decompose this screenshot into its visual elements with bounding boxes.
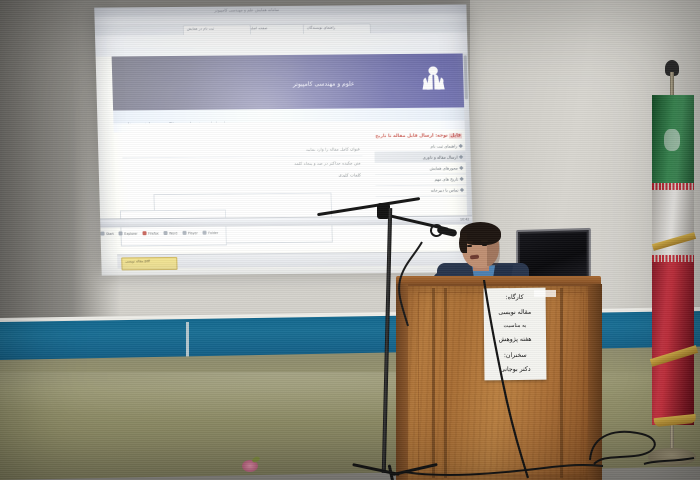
- firefox-icon: [143, 231, 147, 235]
- laptop-screen: [520, 232, 587, 280]
- iran-flag: [652, 95, 694, 425]
- start-icon: [100, 231, 104, 235]
- download-button[interactable]: مقاله نویسی.pdf: [121, 257, 177, 270]
- sunburst-fan-logo: [416, 62, 451, 92]
- podium-cable: [470, 280, 530, 480]
- folder-icon: [203, 230, 207, 234]
- content-line-0: عنوان کامل مقاله را وارد نمایید: [118, 142, 366, 156]
- player-icon: [182, 230, 186, 234]
- page-sidebar: فایل توجه: ارسال فایل مقاله تا تاریخ مشخ…: [374, 131, 468, 197]
- word-icon: [164, 231, 168, 235]
- flag-fold-shading: [652, 95, 694, 425]
- taskbar-label: Firefox: [148, 231, 159, 235]
- presenter-brow-left: [466, 241, 473, 243]
- sidebar-item-label: تماس با دبیرخانه: [431, 188, 459, 193]
- microphone-cable: [390, 240, 430, 330]
- bullet-icon: [459, 143, 463, 147]
- taskbar-item-1[interactable]: Explorer: [119, 229, 138, 235]
- sidebar-item-3[interactable]: تاریخ های مهم: [375, 174, 467, 186]
- taskbar-item-5[interactable]: Folder: [203, 229, 219, 235]
- bullet-icon: [460, 188, 464, 192]
- site-banner: علوم و مهندسی کامپیوتر: [112, 53, 466, 110]
- content-line-2: کلمات کلیدی: [119, 169, 367, 183]
- bullet-icon: [460, 177, 464, 181]
- sign-tape: [534, 290, 556, 297]
- presenter-brow-right: [481, 240, 488, 242]
- taskbar-item-4[interactable]: Player: [182, 229, 198, 235]
- sidebar-item-label: ارسال مقاله و داوری: [423, 154, 458, 159]
- taskbar-label: Explorer: [124, 231, 137, 235]
- banner-title: علوم و مهندسی کامپیوتر: [293, 80, 355, 88]
- window-title: سامانه همایش علم و مهندسی کامپیوتر: [214, 7, 279, 13]
- projection-screen: سامانه همایش علم و مهندسی کامپیوتر FileE…: [94, 4, 474, 275]
- taskbar-label: Player: [188, 231, 198, 235]
- taskbar-item-3[interactable]: Word: [164, 229, 178, 235]
- taskbar-label: Word: [169, 231, 177, 235]
- bullet-icon: [459, 155, 463, 159]
- sidebar-item-1[interactable]: ارسال مقاله و داوری: [374, 152, 466, 164]
- bullet-icon: [459, 166, 463, 170]
- page-main-column: عنوان کامل مقاله را وارد نمایید متن چکید…: [118, 142, 367, 183]
- alert-highlight: فایل: [449, 133, 462, 138]
- explorer-icon: [119, 231, 123, 235]
- taskbar-item-2[interactable]: Firefox: [143, 229, 159, 235]
- lecture-hall-photo: سامانه همایش علم و مهندسی کامپیوتر FileE…: [0, 0, 700, 480]
- taskbar-label: Start: [106, 231, 114, 235]
- scrollbar-thumb[interactable]: [464, 55, 469, 99]
- taskbar-start-button[interactable]: Start: [100, 230, 113, 236]
- taskbar-label: Folder: [208, 231, 218, 235]
- sidebar-item-4[interactable]: تماس با دبیرخانه: [375, 185, 467, 197]
- floor-cable-podium: [404, 452, 604, 480]
- taskbar-clock: 10:42: [460, 218, 469, 222]
- sidebar-item-2[interactable]: محورهای همایش: [375, 163, 467, 175]
- sidebar-item-0[interactable]: راهنمای ثبت نام: [374, 140, 466, 152]
- alert-text: توجه: ارسال فایل مقاله تا تاریخ مشخص شده: [374, 134, 448, 140]
- presenter-sideburn: [459, 233, 467, 253]
- sidebar-item-label: راهنمای ثبت نام: [431, 143, 458, 148]
- sidebar-item-label: تاریخ های مهم: [434, 177, 458, 182]
- sidebar-item-label: محورهای همایش: [429, 165, 457, 170]
